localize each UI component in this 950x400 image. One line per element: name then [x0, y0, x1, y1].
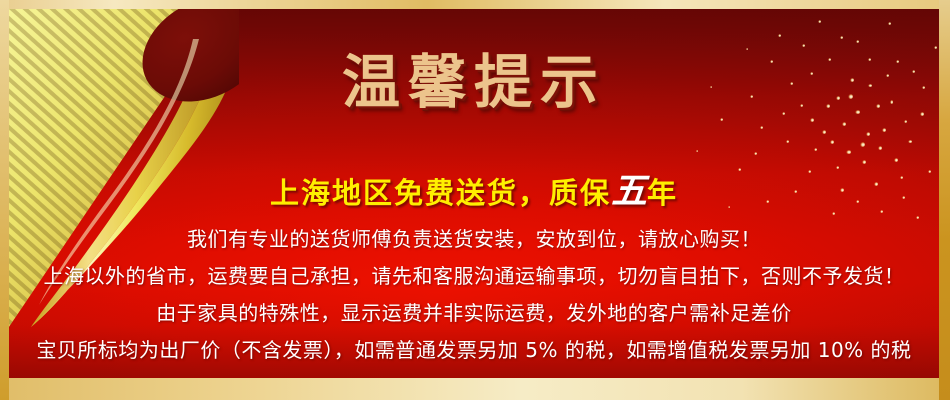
frame-border-right	[939, 0, 950, 400]
promo-banner: 温馨提示 上海地区免费送货，质保五年 我们有专业的送货师傅负责送货安装，安放到位…	[0, 0, 950, 400]
frame-border-top	[0, 0, 950, 9]
gold-confetti-sparkles	[650, 0, 950, 230]
curled-gold-ribbon	[9, 9, 239, 329]
frame-border-bottom	[0, 378, 950, 400]
frame-border-left	[0, 0, 9, 400]
